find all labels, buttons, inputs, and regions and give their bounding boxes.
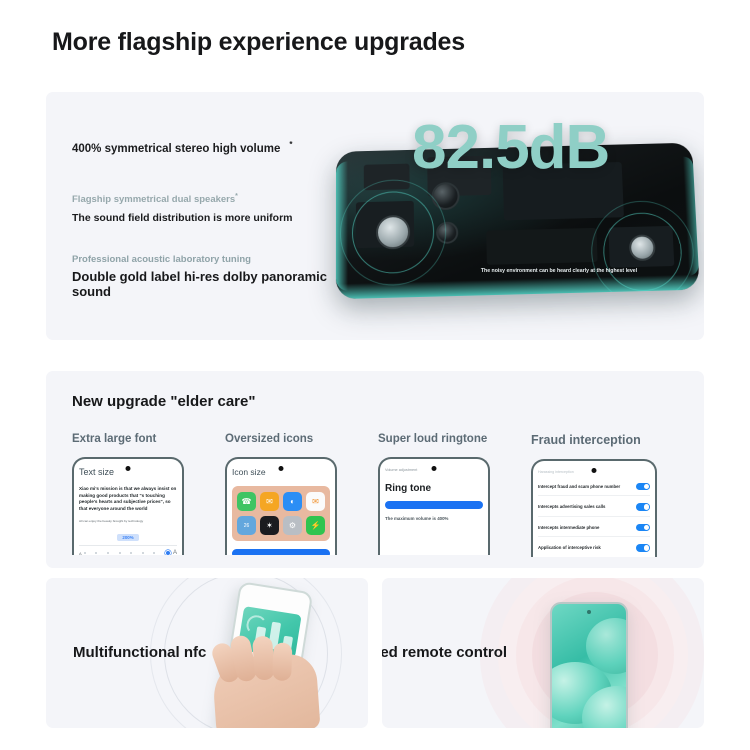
- fraud-row-1[interactable]: Intercept fraud and scam phone number: [538, 483, 650, 491]
- audio-main-1: The sound field distribution is more uni…: [72, 212, 332, 224]
- large-a-icon: A: [173, 550, 177, 555]
- fraud-row-2-toggle[interactable]: [636, 503, 650, 511]
- volume-slider[interactable]: [385, 501, 483, 509]
- text-size-track[interactable]: [84, 550, 171, 555]
- audio-main-2: Double gold label hi-res dolby panoramic…: [72, 269, 332, 299]
- audio-sub-2: Professional acoustic laboratory tuning: [72, 254, 332, 265]
- audio-headline-text: 400% symmetrical stereo high volume: [72, 143, 280, 155]
- page-title: More flagship experience upgrades: [52, 28, 465, 57]
- messages-app-icon[interactable]: ✉: [260, 492, 279, 511]
- hand-illustration: [211, 652, 320, 728]
- elder-col-head-1: Extra large font: [72, 433, 225, 445]
- elder-col-head-3: Super loud ringtone: [378, 433, 531, 445]
- fraud-row-1-toggle[interactable]: [636, 483, 650, 491]
- text-size-body: Xiao mi's mission is that we always insi…: [79, 486, 177, 512]
- fraud-row-3-label: Intercepts intermediate phone: [538, 525, 599, 530]
- infrared-feature-panel: Infrared remote control: [382, 578, 704, 728]
- browser-app-icon[interactable]: ◐: [283, 492, 302, 511]
- text-size-screen-title: Text size: [79, 467, 177, 477]
- fraud-row-3-toggle[interactable]: [636, 524, 650, 532]
- nfc-label: Multifunctional nfc: [73, 644, 206, 661]
- phone-app-icon[interactable]: ☎: [237, 492, 256, 511]
- fraud-row-4-label: Application of interceptive risk: [538, 545, 601, 550]
- audio-copy-block: 400% symmetrical stereo high volume* Fla…: [72, 140, 332, 299]
- audio-feature-panel: 82.5dB The noisy environment can be hear…: [46, 92, 704, 340]
- elder-col-head-2: Oversized icons: [225, 433, 378, 445]
- icon-size-screen-title: Icon size: [232, 467, 330, 477]
- settings-app-icon[interactable]: ⚙: [283, 516, 302, 535]
- db-value: 82.5dB: [412, 112, 609, 183]
- small-a-icon: A: [79, 551, 82, 555]
- camera-dot-icon-2: [279, 466, 284, 471]
- infrared-label: Infrared remote control: [382, 644, 507, 661]
- elder-col-head-4: Fraud interception: [531, 433, 684, 447]
- audio-sub-1: Flagship symmetrical dual speakers*: [72, 193, 332, 205]
- compass-app-icon[interactable]: ✶: [260, 516, 279, 535]
- camera-dot-icon-3: [432, 466, 437, 471]
- elder-col-oversized-icons: Oversized icons Icon size ☎ ✉ ◐ ✉ 26 ✶ ⚙: [225, 433, 378, 568]
- home-indicator-bar: [232, 549, 330, 555]
- camera-dot-icon: [126, 466, 131, 471]
- ringtone-screen-title: Ring tone: [385, 483, 483, 494]
- weather-app-icon[interactable]: 26: [237, 516, 256, 535]
- camera-dot-icon-5: [587, 610, 591, 614]
- phone-xray-illustration: 82.5dB The noisy environment can be hear…: [314, 116, 704, 322]
- phone-mock-fraud: Harassing interception Intercept fraud a…: [531, 459, 657, 557]
- promo-page: More flagship experience upgrades: [0, 0, 750, 750]
- fraud-row-1-label: Intercept fraud and scam phone number: [538, 484, 620, 489]
- elder-col-fraud-interception: Fraud interception Harassing interceptio…: [531, 433, 684, 568]
- elder-care-panel: New upgrade "elder care" Extra large fon…: [46, 371, 704, 568]
- infrared-phone-mock: [550, 602, 628, 728]
- asterisk-icon-2: *: [235, 193, 238, 200]
- elder-care-title: New upgrade "elder care": [72, 393, 255, 410]
- phone-mock-text-size: Text size Xiao mi's mission is that we a…: [72, 457, 184, 555]
- volume-adjustment-label: Volume adjustment: [385, 468, 483, 473]
- fraud-row-2-label: Intercepts advertising sales calls: [538, 504, 605, 509]
- asterisk-icon: *: [289, 140, 292, 149]
- phone-mock-icon-size: Icon size ☎ ✉ ◐ ✉ 26 ✶ ⚙ ⚡: [225, 457, 337, 555]
- audio-sub-1-text: Flagship symmetrical dual speakers: [72, 194, 235, 205]
- fraud-row-3[interactable]: Intercepts intermediate phone: [538, 516, 650, 532]
- fraud-row-4-toggle[interactable]: [636, 544, 650, 552]
- app-icon-grid: ☎ ✉ ◐ ✉ 26 ✶ ⚙ ⚡: [232, 486, 330, 541]
- nfc-feature-panel: Multifunctional nfc: [46, 578, 368, 728]
- elder-care-columns: Extra large font Text size Xiao mi's mis…: [72, 433, 684, 568]
- fraud-row-2[interactable]: Intercepts advertising sales calls: [538, 495, 650, 511]
- elder-col-super-loud-ringtone: Super loud ringtone Volume adjustment Ri…: [378, 433, 531, 568]
- text-size-slider[interactable]: A A: [79, 545, 177, 555]
- elder-col-extra-large-font: Extra large font Text size Xiao mi's mis…: [72, 433, 225, 568]
- phone-mock-ringtone: Volume adjustment Ring tone The maximum …: [378, 457, 490, 555]
- max-volume-note: The maximum volume is 400%: [385, 516, 483, 521]
- fraud-screen-title: Harassing interception: [538, 470, 650, 474]
- camera-dot-icon-4: [592, 468, 597, 473]
- audio-headline: 400% symmetrical stereo high volume*: [72, 140, 332, 155]
- mail-app-icon[interactable]: ✉: [306, 492, 325, 511]
- db-caption: The noisy environment can be heard clear…: [454, 268, 664, 276]
- power-app-icon[interactable]: ⚡: [306, 516, 325, 535]
- text-size-badge: 200%: [117, 534, 139, 541]
- fraud-row-4[interactable]: Application of interceptive risk: [538, 536, 650, 552]
- text-size-knob[interactable]: [165, 550, 171, 555]
- text-size-sub: All can enjoy the beauty brought by tech…: [79, 519, 177, 523]
